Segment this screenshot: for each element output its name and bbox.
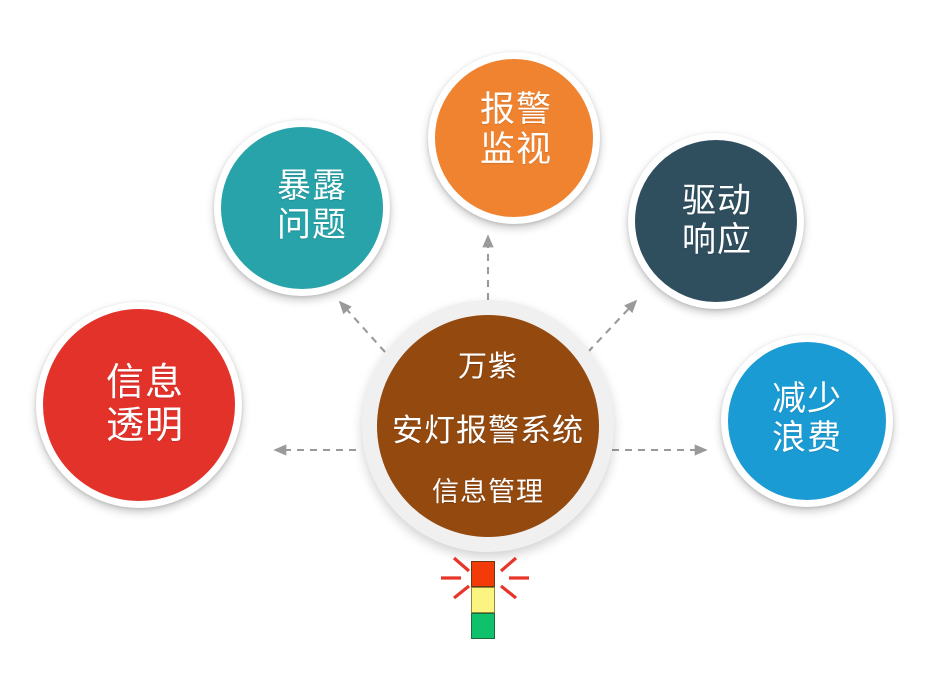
- node-reduce-waste-line-2: 浪费: [772, 419, 842, 458]
- node-reduce-waste-line-1: 减少: [772, 380, 842, 419]
- center-hub-line-middle: 安灯报警系统: [392, 405, 584, 450]
- center-hub-line-bottom: 信息管理: [432, 470, 544, 509]
- node-reduce-waste[interactable]: 减少 浪费: [721, 335, 893, 507]
- center-hub-line-top: 万紫: [458, 343, 518, 385]
- node-drive-response-line-2: 响应: [682, 221, 752, 260]
- andon-light-tower[interactable]: [471, 561, 495, 641]
- diagram-canvas: 万紫 安灯报警系统 信息管理 报警 监视 暴露 问题 驱动 响应 信息 透明 减…: [0, 0, 939, 680]
- node-alarm-monitor-line-1: 报警: [480, 90, 552, 130]
- andon-lamp-green: [471, 613, 495, 639]
- node-expose-problem-line-1: 暴露: [277, 167, 347, 206]
- node-drive-response[interactable]: 驱动 响应: [628, 133, 804, 309]
- center-hub[interactable]: 万紫 安灯报警系统 信息管理: [377, 315, 599, 537]
- node-info-transparent-line-2: 透明: [106, 405, 184, 448]
- node-drive-response-line-1: 驱动: [682, 182, 752, 221]
- node-expose-problem-line-2: 问题: [277, 206, 347, 245]
- node-alarm-monitor[interactable]: 报警 监视: [428, 52, 600, 224]
- connector-to-expose-problem: [340, 302, 385, 352]
- node-info-transparent[interactable]: 信息 透明: [36, 302, 242, 508]
- node-info-transparent-line-1: 信息: [106, 362, 184, 405]
- andon-lamp-red: [471, 561, 495, 587]
- node-expose-problem[interactable]: 暴露 问题: [214, 120, 390, 296]
- connector-to-drive-response: [588, 301, 636, 352]
- node-alarm-monitor-line-2: 监视: [480, 130, 552, 170]
- andon-lamp-yellow: [471, 587, 495, 613]
